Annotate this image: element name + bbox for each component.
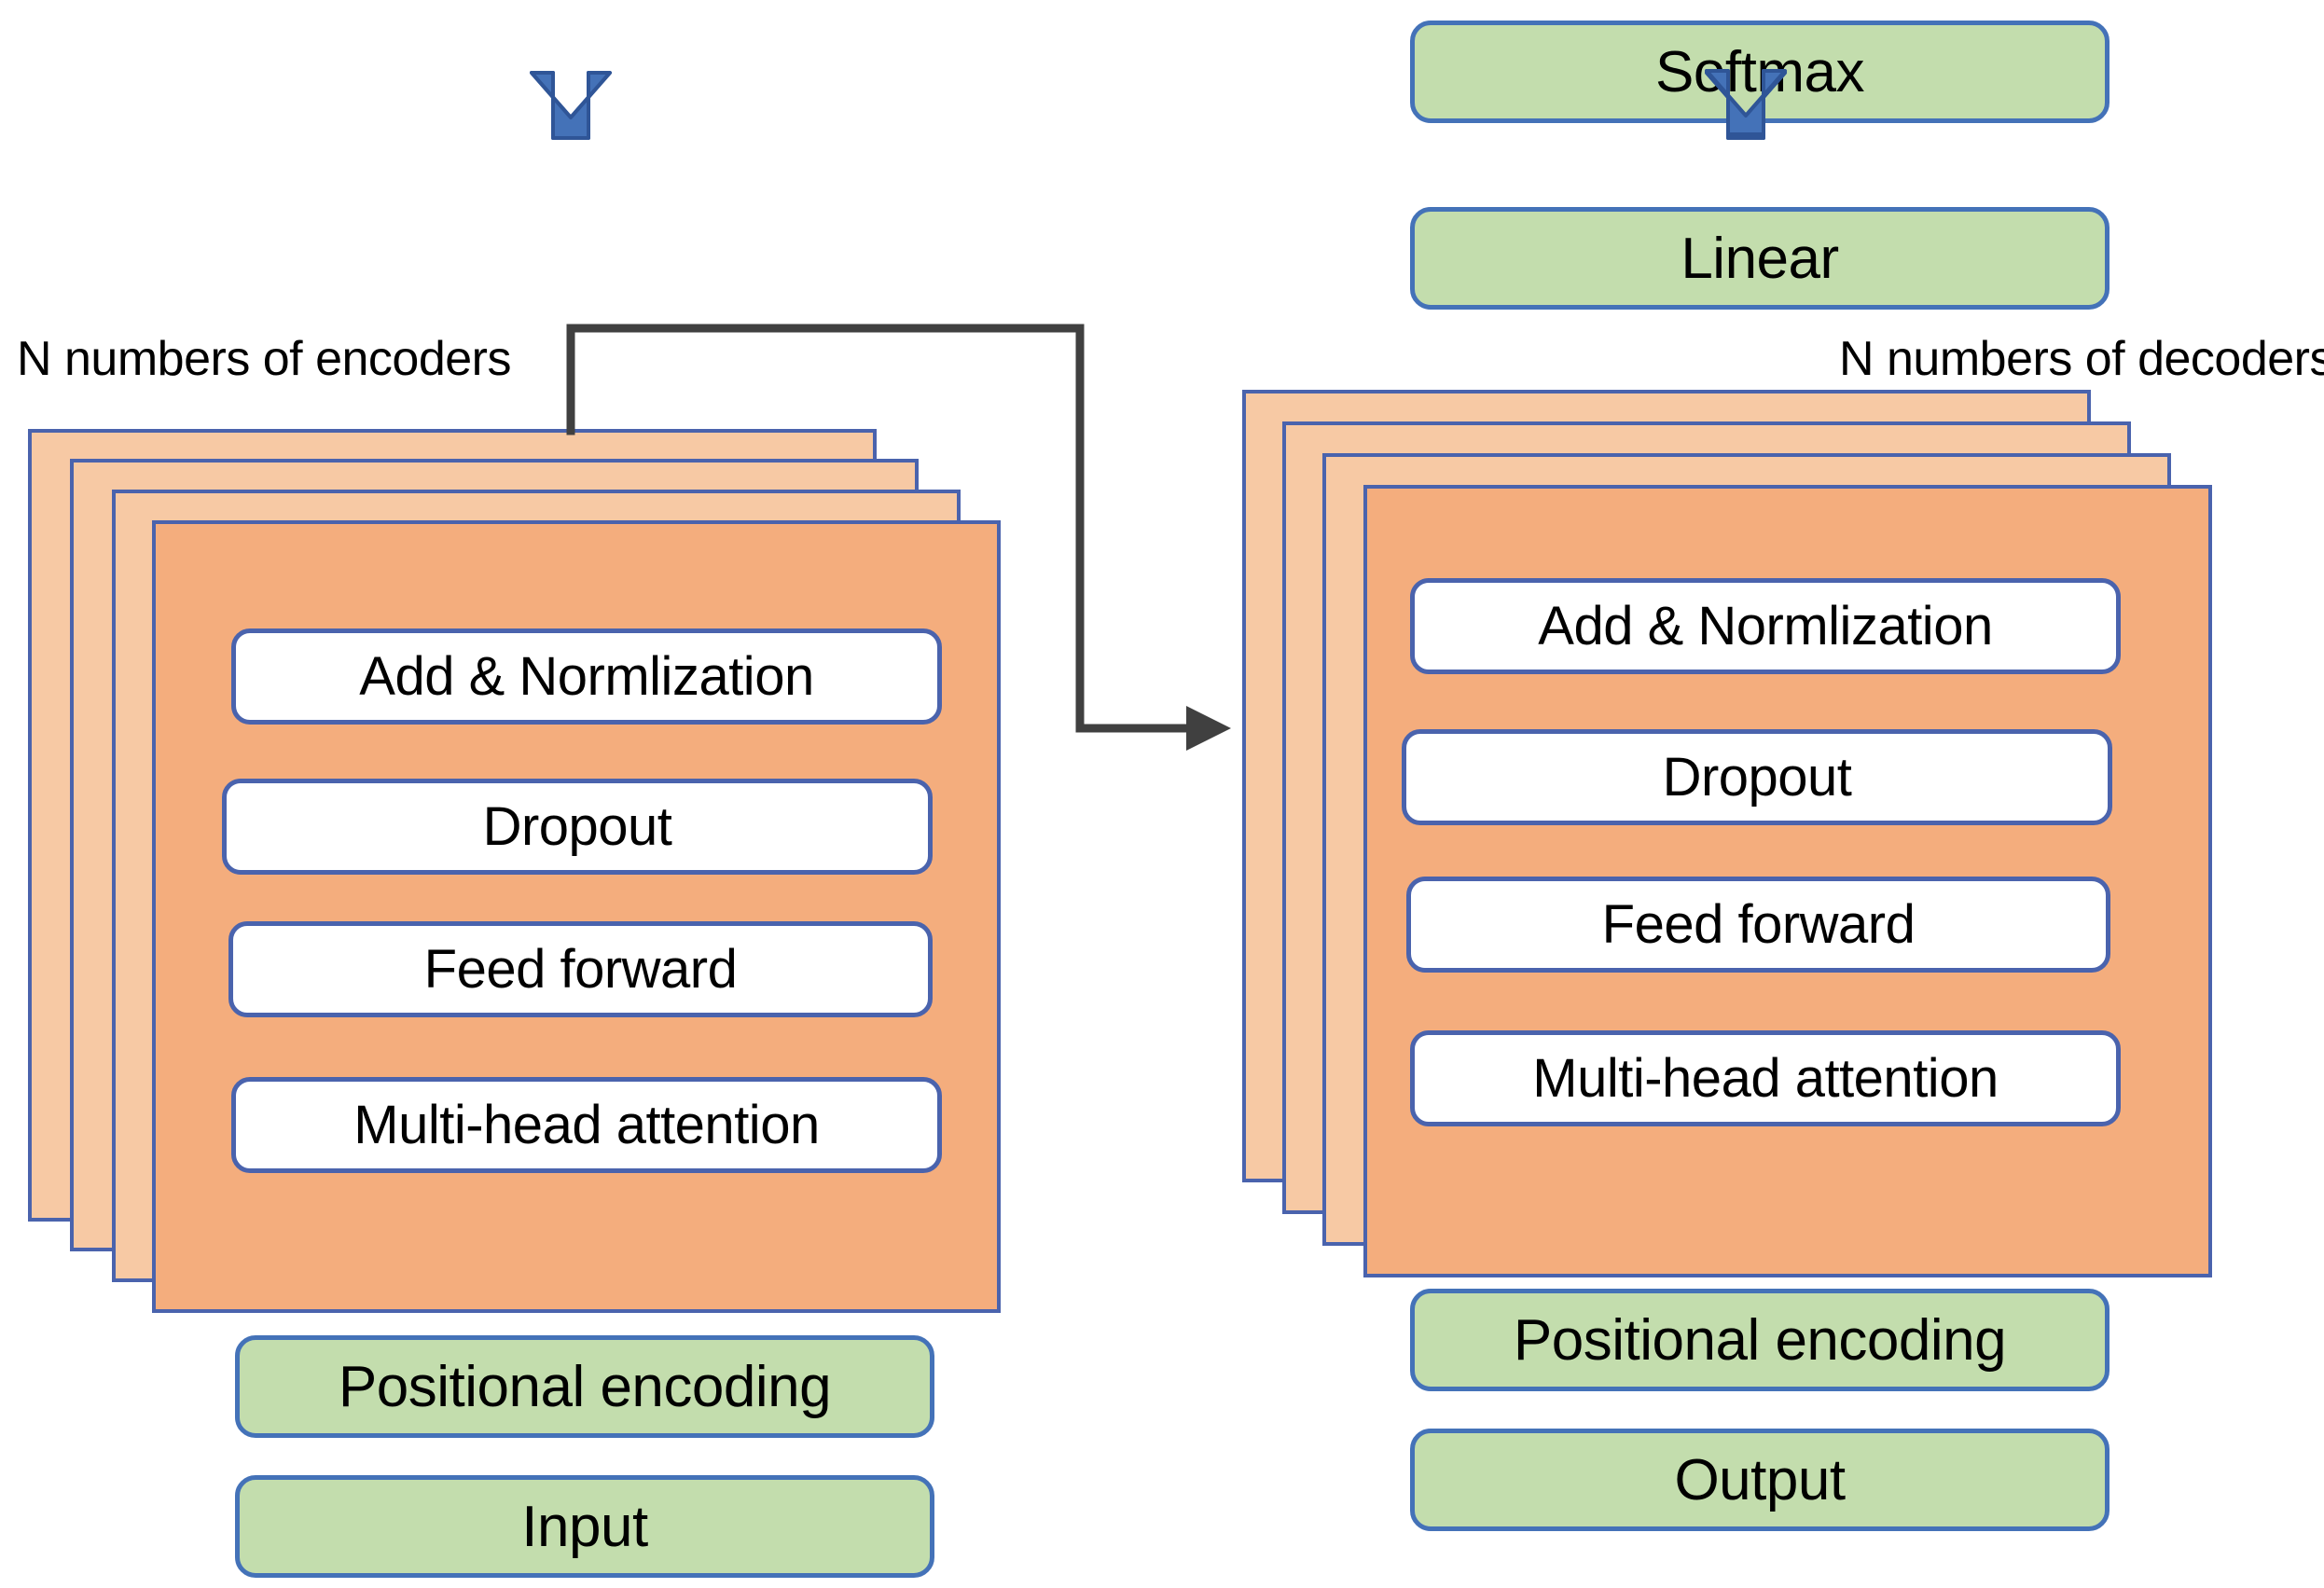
arrow-encoder-positional-to-stack[interactable] (532, 73, 610, 138)
connector-encoder-to-decoder[interactable] (571, 328, 1080, 728)
connector-arrowhead-icon (1186, 706, 1231, 751)
arrow-linear-to-softmax[interactable] (1707, 71, 1785, 134)
transformer-architecture-diagram: N numbers of encoders N numbers of decod… (0, 0, 2324, 1588)
arrows-overlay (0, 0, 2324, 1588)
